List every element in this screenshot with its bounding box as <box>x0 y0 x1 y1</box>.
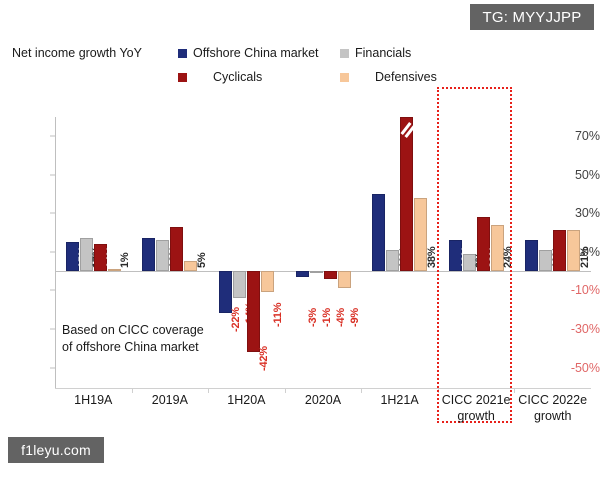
y-tick-mark <box>50 328 55 329</box>
chart-screenshot: TG: MYYJJPP Net income growth YoY Offsho… <box>0 0 600 480</box>
bar-value-label: 1% <box>119 253 131 269</box>
y-axis-line <box>55 117 56 389</box>
y-tick-label: -50% <box>554 361 600 374</box>
annotation-line-1: Based on CICC coverage <box>62 322 277 339</box>
bar-defensives <box>261 271 274 292</box>
legend-title: Net income growth YoY <box>12 46 142 60</box>
x-axis-labels: 1H19A2019A1H20A2020A1H21ACICC 2021egrowt… <box>0 393 600 437</box>
bar-defensives <box>108 269 121 271</box>
y-tick-label: -10% <box>554 284 600 297</box>
legend-item-cyclicals: Cyclicals <box>178 70 262 84</box>
legend-item-defensives: Defensives <box>340 70 437 84</box>
x-axis-label-line: CICC 2022e <box>514 393 591 409</box>
bar-value-label: -9% <box>349 308 361 327</box>
bar-value-label: -4% <box>335 308 347 327</box>
telegram-watermark: TG: MYYJJPP <box>470 4 594 30</box>
y-tick-mark <box>50 290 55 291</box>
legend-swatch-financials <box>340 49 349 58</box>
bar-value-label: -1% <box>321 308 333 327</box>
legend-item-financials: Financials <box>340 46 411 60</box>
y-tick-label: 50% <box>554 168 600 181</box>
bar-value-label: 5% <box>196 253 208 269</box>
y-tick-label: -30% <box>554 323 600 336</box>
bar-value-label: 24% <box>502 247 514 268</box>
y-tick-label: 70% <box>554 130 600 143</box>
plot-area: 70%50%30%10%-10%-30%-50% 15%17%14%1%17%1… <box>0 100 600 400</box>
legend-swatch-defensives <box>340 73 349 82</box>
bar-financials <box>310 271 323 273</box>
x-axis-label-line: CICC 2021e <box>438 393 515 409</box>
x-axis-label-line: 1H21A <box>361 393 438 409</box>
chart-annotation: Based on CICC coverage of offshore China… <box>62 322 277 356</box>
bar-value-label: -3% <box>307 308 319 327</box>
x-axis-label-line: 2019A <box>132 393 209 409</box>
category-axis-line <box>55 388 591 389</box>
x-axis-label-1h20a: 1H20A <box>208 393 285 409</box>
bar-value-label: 21% <box>579 247 591 268</box>
bar-defensives <box>338 271 351 288</box>
site-watermark: f1leyu.com <box>8 437 104 463</box>
legend-label-financials: Financials <box>355 46 411 60</box>
x-axis-label-line: 2020A <box>285 393 362 409</box>
y-tick-mark <box>50 367 55 368</box>
x-axis-label-2019a: 2019A <box>132 393 209 409</box>
legend-item-offshore-china-market: Offshore China market <box>178 46 319 60</box>
x-axis-label-line: 1H19A <box>55 393 132 409</box>
y-tick-mark <box>50 251 55 252</box>
chart-legend: Net income growth YoY Offshore China mar… <box>10 44 590 92</box>
y-tick-mark <box>50 213 55 214</box>
legend-label-defensives: Defensives <box>375 70 437 84</box>
x-axis-label-line: growth <box>438 409 515 425</box>
annotation-line-2: of offshore China market <box>62 339 277 356</box>
legend-label-offshore-china-market: Offshore China market <box>193 46 319 60</box>
x-axis-label-cicc-2022e-growth: CICC 2022egrowth <box>514 393 591 424</box>
bar-offshore-china-market <box>296 271 309 277</box>
x-axis-label-1h21a: 1H21A <box>361 393 438 409</box>
y-tick-mark <box>50 135 55 136</box>
x-axis-label-1h19a: 1H19A <box>55 393 132 409</box>
bar-value-label: 14% <box>105 247 117 268</box>
y-tick-mark <box>50 174 55 175</box>
x-axis-label-2020a: 2020A <box>285 393 362 409</box>
legend-swatch-cyclicals <box>178 73 187 82</box>
y-tick-label: 30% <box>554 207 600 220</box>
legend-swatch-offshore-china-market <box>178 49 187 58</box>
bar-cyclicals <box>324 271 337 279</box>
legend-label-cyclicals: Cyclicals <box>213 70 262 84</box>
x-axis-label-line: growth <box>514 409 591 425</box>
bar-value-label: 38% <box>426 247 438 268</box>
bar-financials <box>233 271 246 298</box>
x-axis-label-cicc-2021e-growth: CICC 2021egrowth <box>438 393 515 424</box>
x-axis-label-line: 1H20A <box>208 393 285 409</box>
